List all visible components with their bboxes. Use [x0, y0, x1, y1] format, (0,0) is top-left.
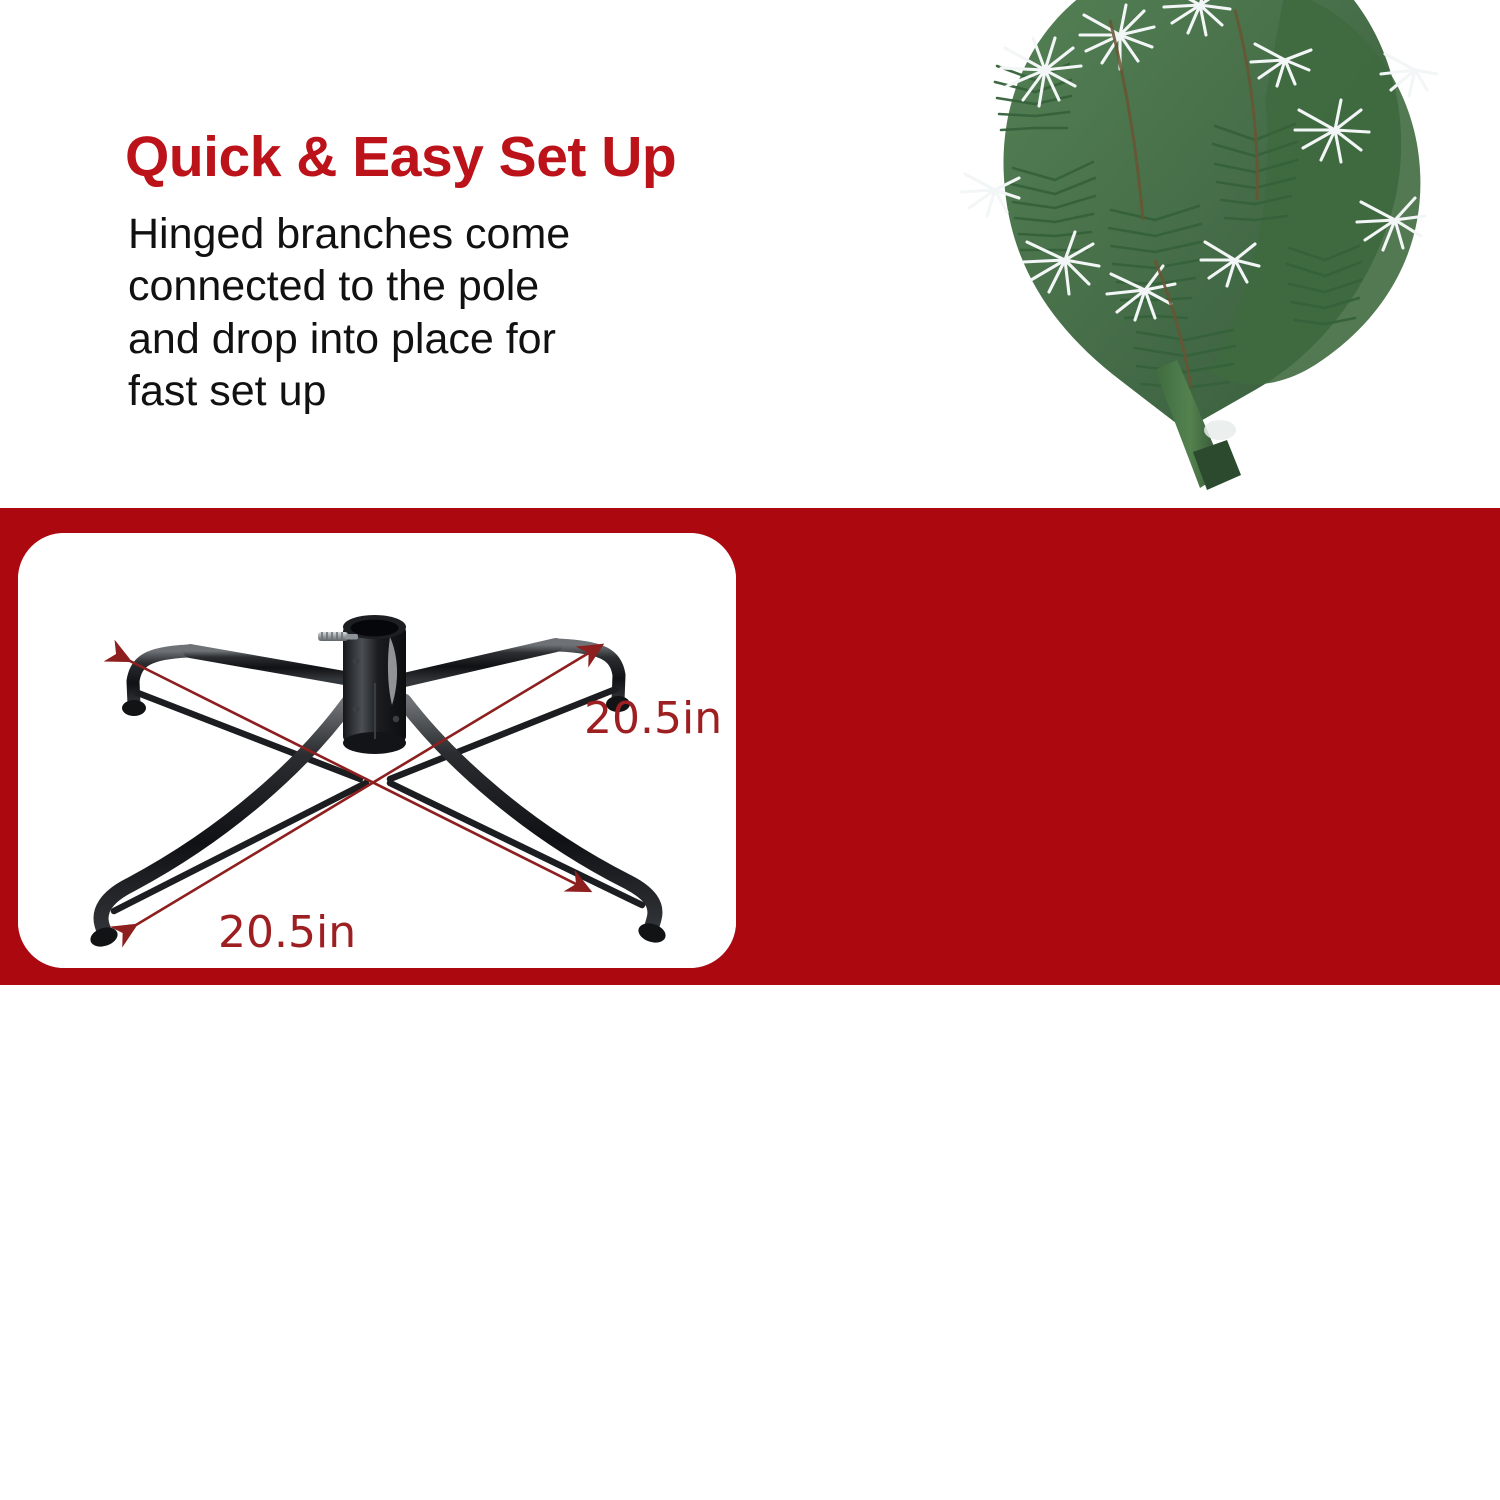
metal-base-diagram: [18, 533, 736, 968]
setup-heading: Quick & Easy Set Up: [125, 128, 676, 188]
dimension-label-diagonal-bottom: 20.5in: [218, 907, 356, 958]
metal-base-card: 20.5in 20.5in: [18, 533, 736, 968]
pine-branch-photo: [855, 0, 1500, 500]
setup-body-text: Hinged branches come connected to the po…: [128, 208, 768, 418]
dimension-label-diagonal-right: 20.5in: [584, 693, 722, 744]
product-infographic: Quick & Easy Set Up Hinged branches come…: [0, 0, 1500, 1500]
section-sturdy-metal-base: 20.5in 20.5in: [0, 508, 1500, 985]
section-quick-easy-setup: Quick & Easy Set Up Hinged branches come…: [0, 0, 1500, 508]
section-pvc-tips: PVC Tips Built with safety in mind, cons…: [0, 985, 1500, 1500]
